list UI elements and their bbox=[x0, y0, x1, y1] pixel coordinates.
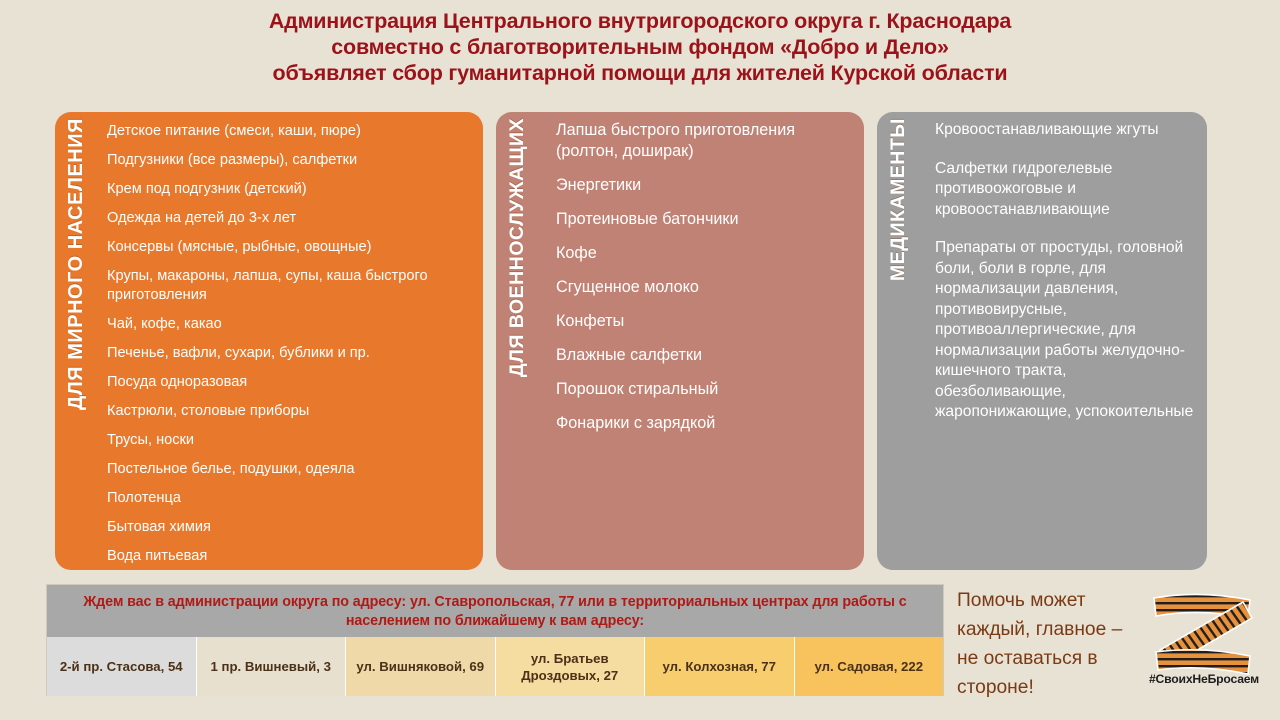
list-item: Консервы (мясные, рыбные, овощные) bbox=[107, 238, 473, 257]
list-item: Вода питьевая bbox=[107, 547, 473, 566]
item-list-medicines: Кровоостанавливающие жгуты Салфетки гидр… bbox=[919, 112, 1207, 570]
categories-container: ДЛЯ МИРНОГО НАСЕЛЕНИЯ Детское питание (с… bbox=[0, 112, 1280, 570]
list-item: Печенье, вафли, сухари, бублики и пр. bbox=[107, 344, 473, 363]
list-item: Бытовая химия bbox=[107, 518, 473, 537]
list-item: Полотенца bbox=[107, 489, 473, 508]
list-item: Постельное белье, подушки, одеяла bbox=[107, 460, 473, 479]
list-item: Салфетки гидрогелевые противоожоговые и … bbox=[935, 159, 1199, 221]
title-line-1: Администрация Центрального внутригородск… bbox=[0, 8, 1280, 34]
list-item: Протеиновые батончики bbox=[556, 209, 854, 230]
list-item: Фонарики с зарядкой bbox=[556, 413, 854, 434]
address-cell: ул. Садовая, 222 bbox=[795, 637, 944, 696]
address-cell: 2-й пр. Стасова, 54 bbox=[47, 637, 197, 696]
addresses-panel: Ждем вас в администрации округа по адрес… bbox=[46, 584, 944, 696]
category-card-military: ДЛЯ ВОЕННОСЛУЖАЩИХ Лапша быстрого пригот… bbox=[496, 112, 864, 570]
list-item: Препараты от простуды, головной боли, бо… bbox=[935, 238, 1199, 423]
address-cell: ул. Вишняковой, 69 bbox=[346, 637, 496, 696]
title-line-2: совместно с благотворительным фондом «До… bbox=[0, 34, 1280, 60]
addresses-header-text: Ждем вас в администрации округа по адрес… bbox=[59, 593, 931, 631]
title-line-3: объявляет сбор гуманитарной помощи для ж… bbox=[0, 60, 1280, 86]
category-label-medicines: МЕДИКАМЕНТЫ bbox=[877, 112, 919, 570]
list-item: Подгузники (все размеры), салфетки bbox=[107, 151, 473, 170]
list-item: Чай, кофе, какао bbox=[107, 315, 473, 334]
address-cell: 1 пр. Вишневый, 3 bbox=[197, 637, 347, 696]
list-item: Сгущенное молоко bbox=[556, 277, 854, 298]
list-item: Трусы, носки bbox=[107, 431, 473, 450]
category-label-military-text: ДЛЯ ВОЕННОСЛУЖАЩИХ bbox=[506, 118, 529, 377]
poster-canvas: Администрация Центрального внутригородск… bbox=[0, 0, 1280, 720]
list-item: Кровоостанавливающие жгуты bbox=[935, 120, 1199, 141]
item-list-civilians: Детское питание (смеси, каши, пюре) Подг… bbox=[97, 112, 483, 570]
list-item: Влажные салфетки bbox=[556, 345, 854, 366]
list-item: Крупы, макароны, лапша, супы, каша быстр… bbox=[107, 267, 473, 305]
address-cell: ул. Колхозная, 77 bbox=[645, 637, 795, 696]
address-cell: ул. Братьев Дроздовых, 27 bbox=[496, 637, 646, 696]
list-item: Энергетики bbox=[556, 175, 854, 196]
list-item: Крем под подгузник (детский) bbox=[107, 180, 473, 199]
list-item: Одежда на детей до 3-х лет bbox=[107, 209, 473, 228]
category-label-military: ДЛЯ ВОЕННОСЛУЖАЩИХ bbox=[496, 112, 538, 570]
list-item: Детское питание (смеси, каши, пюре) bbox=[107, 122, 473, 141]
item-list-military: Лапша быстрого приготовления (ролтон, до… bbox=[538, 112, 864, 570]
list-item: Кастрюли, столовые приборы bbox=[107, 402, 473, 421]
list-item: Конфеты bbox=[556, 311, 854, 332]
addresses-header: Ждем вас в администрации округа по адрес… bbox=[47, 585, 943, 637]
logo-hashtag: #СвоихНеБросаем bbox=[1136, 672, 1272, 686]
addresses-row: 2-й пр. Стасова, 54 1 пр. Вишневый, 3 ул… bbox=[47, 637, 943, 696]
category-card-civilians: ДЛЯ МИРНОГО НАСЕЛЕНИЯ Детское питание (с… bbox=[55, 112, 483, 570]
list-item: Кофе bbox=[556, 243, 854, 264]
category-label-civilians-text: ДЛЯ МИРНОГО НАСЕЛЕНИЯ bbox=[65, 118, 88, 410]
category-label-medicines-text: МЕДИКАМЕНТЫ bbox=[887, 118, 910, 281]
list-item: Лапша быстрого приготовления (ролтон, до… bbox=[556, 120, 854, 162]
list-item: Порошок стиральный bbox=[556, 379, 854, 400]
page-title: Администрация Центрального внутригородск… bbox=[0, 8, 1280, 86]
category-label-civilians: ДЛЯ МИРНОГО НАСЕЛЕНИЯ bbox=[55, 112, 97, 570]
call-to-action-text: Помочь может каждый, главное – не остава… bbox=[957, 586, 1142, 702]
category-card-medicines: МЕДИКАМЕНТЫ Кровоостанавливающие жгуты С… bbox=[877, 112, 1207, 570]
list-item: Посуда одноразовая bbox=[107, 373, 473, 392]
